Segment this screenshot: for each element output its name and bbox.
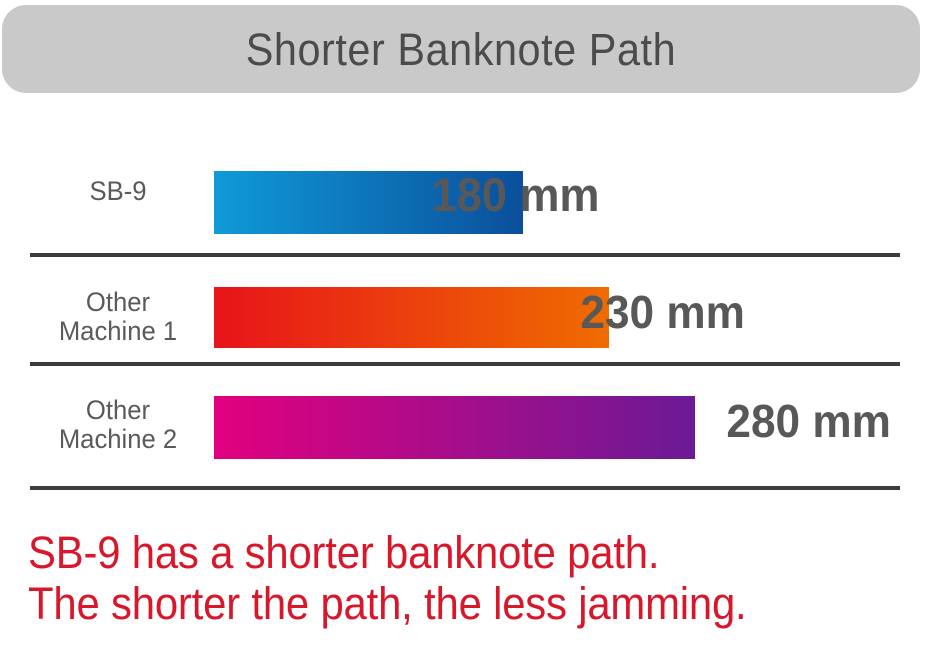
footnote-line-2: The shorter the path, the less jamming.	[28, 579, 874, 630]
bar-other-machine-2	[214, 396, 695, 459]
chart-row-label-line: SB-9	[23, 177, 213, 206]
chart-row-label-other-machine-2: Other Machine 2	[23, 396, 213, 454]
footnote-line-1: SB-9 has a shorter banknote path.	[28, 528, 874, 579]
bar-value-other-machine-1: 230 mm	[580, 289, 744, 335]
bar-value-other-machine-2: 280 mm	[726, 398, 890, 444]
row-divider-3	[30, 486, 900, 490]
bar-other-machine-1	[214, 287, 609, 348]
row-divider-2	[30, 362, 900, 366]
chart-row-label-other-machine-1: Other Machine 1	[23, 288, 213, 346]
bar-value-sb-9: 180 mm	[432, 171, 600, 218]
chart-row-label-line: Other	[23, 396, 213, 425]
chart-row-label-sb-9: SB-9	[23, 177, 213, 206]
chart-row-label-line: Machine 2	[23, 425, 213, 454]
infographic-canvas: Shorter Banknote Path SB-9 180 mm Other …	[0, 0, 951, 670]
chart-row-label-line: Machine 1	[23, 317, 213, 346]
chart-row-label-line: Other	[23, 288, 213, 317]
footnote-message: SB-9 has a shorter banknote path. The sh…	[28, 528, 938, 630]
row-divider-1	[30, 253, 900, 257]
